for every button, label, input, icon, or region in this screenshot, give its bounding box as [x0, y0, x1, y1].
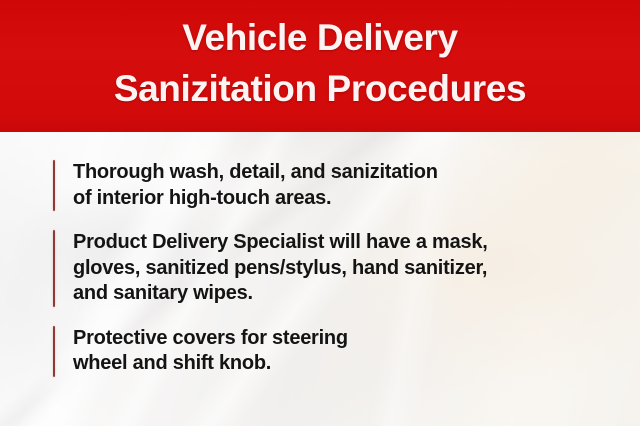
header-red-band: Vehicle Delivery Sanizitation Procedures	[0, 0, 640, 132]
bullet-item-2-text: Product Delivery Specialist will have a …	[55, 230, 616, 307]
bullet-item-3-text: Protective covers for steering wheel and…	[55, 326, 616, 377]
title-line-2: Sanizitation Procedures	[0, 63, 640, 114]
bullet-item-2: Product Delivery Specialist will have a …	[53, 230, 616, 307]
bullet-item-1-text: Thorough wash, detail, and sanizitation …	[55, 160, 616, 211]
header-title-block: Vehicle Delivery Sanizitation Procedures	[0, 12, 640, 114]
bullet-list: Thorough wash, detail, and sanizitation …	[53, 160, 616, 377]
bullet-item-1: Thorough wash, detail, and sanizitation …	[53, 160, 616, 211]
sanitization-procedures-banner: Vehicle Delivery Sanizitation Procedures…	[0, 0, 640, 426]
title-line-1: Vehicle Delivery	[0, 12, 640, 63]
bullet-item-3: Protective covers for steering wheel and…	[53, 326, 616, 377]
